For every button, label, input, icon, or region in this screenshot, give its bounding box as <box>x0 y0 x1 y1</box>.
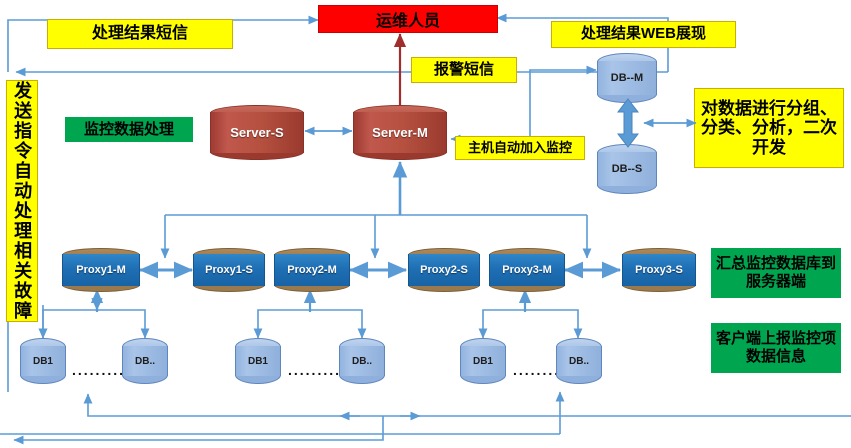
proxy3-m-node[interactable]: Proxy3-M <box>489 248 565 292</box>
proxy3-s-node[interactable]: Proxy3-S <box>622 248 696 292</box>
proxy2-m-label: Proxy2-M <box>287 264 337 276</box>
callout-ops-staff: 运维人员 <box>318 5 498 33</box>
architecture-diagram: 处理结果短信 运维人员 处理结果WEB展现 报警短信 主机自动加入监控 对数据进… <box>0 0 851 448</box>
client-db-g2-dbn-node[interactable]: DB.. <box>339 338 385 384</box>
proxy3-m-label: Proxy3-M <box>502 264 552 276</box>
callout-alarm-sms: 报警短信 <box>411 57 517 83</box>
callout-send-command: 发送指令自动处理相关故障 <box>6 80 38 322</box>
db-s-node[interactable]: DB--S <box>597 144 657 194</box>
callout-result-sms: 处理结果短信 <box>47 19 233 49</box>
callout-data-analysis: 对数据进行分组、分类、分析，二次开发 <box>694 88 844 168</box>
proxy3-s-label: Proxy3-S <box>635 264 683 276</box>
client-db-label: DB1 <box>473 356 493 367</box>
client-db-label: DB.. <box>569 356 589 367</box>
client-db-g1-dbn-node[interactable]: DB.. <box>122 338 168 384</box>
proxy1-s-node[interactable]: Proxy1-S <box>193 248 265 292</box>
client-db-label: DB.. <box>135 356 155 367</box>
proxy2-m-node[interactable]: Proxy2-M <box>274 248 350 292</box>
server-m-node[interactable]: Server-M <box>353 105 447 160</box>
client-db-label: DB1 <box>248 356 268 367</box>
client-db-label: DB1 <box>33 356 53 367</box>
analysis-arrow <box>640 115 700 131</box>
server-s-node[interactable]: Server-S <box>210 105 304 160</box>
client-db-g1-db1-node[interactable]: DB1 <box>20 338 66 384</box>
server-m-label: Server-M <box>372 125 428 140</box>
server-s-label: Server-S <box>230 125 283 140</box>
proxy1-s-label: Proxy1-S <box>205 264 253 276</box>
client-db-label: DB.. <box>352 356 372 367</box>
callout-aggregate-db: 汇总监控数据库到服务器端 <box>711 248 841 298</box>
db-s-label: DB--S <box>612 163 643 175</box>
client-db-g2-db1-node[interactable]: DB1 <box>235 338 281 384</box>
callout-monitor-process: 监控数据处理 <box>65 117 193 142</box>
db-m-node[interactable]: DB--M <box>597 53 657 103</box>
callout-result-web: 处理结果WEB展现 <box>551 21 736 48</box>
proxy2-s-node[interactable]: Proxy2-S <box>408 248 480 292</box>
db-m-label: DB--M <box>611 72 643 84</box>
client-db-g3-db1-node[interactable]: DB1 <box>460 338 506 384</box>
proxy1-m-label: Proxy1-M <box>76 264 126 276</box>
callout-client-report: 客户端上报监控项数据信息 <box>711 323 841 373</box>
client-db-g3-dbn-node[interactable]: DB.. <box>556 338 602 384</box>
callout-auto-join: 主机自动加入监控 <box>455 136 585 160</box>
proxy2-s-label: Proxy2-S <box>420 264 468 276</box>
proxy1-m-node[interactable]: Proxy1-M <box>62 248 140 292</box>
